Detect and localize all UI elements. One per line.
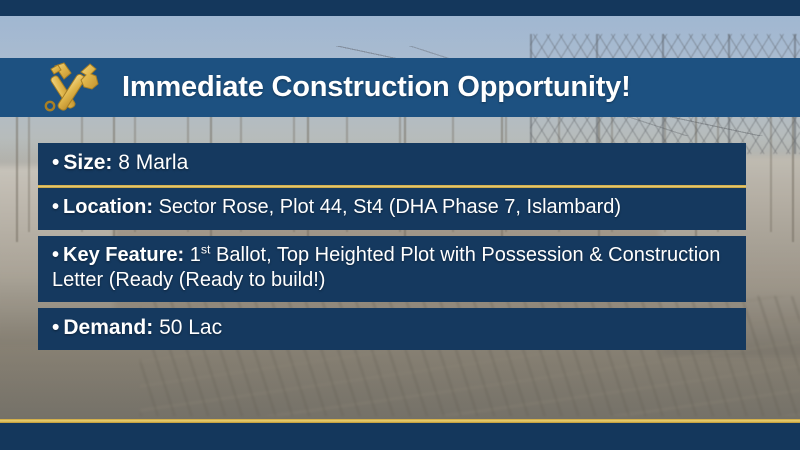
bullet-label-key-feature: Key Feature: bbox=[63, 244, 184, 266]
bullet-label-location: Location: bbox=[63, 196, 153, 218]
bullet-item-size: •Size: 8 Marla bbox=[38, 143, 746, 185]
bullet-value-size: 8 Marla bbox=[118, 151, 188, 174]
bullet-marker-location: • bbox=[52, 196, 59, 218]
top-navy-band bbox=[0, 0, 800, 13]
bullet-item-key-feature: •Key Feature: 1st Ballot, Top Heighted P… bbox=[38, 236, 746, 302]
bullet-label-demand: Demand: bbox=[63, 316, 153, 339]
page-title: Immediate Construction Opportunity! bbox=[122, 71, 631, 104]
bullet-value-demand: 50 Lac bbox=[159, 316, 222, 339]
bullet-item-demand: •Demand: 50 Lac bbox=[38, 308, 746, 350]
bullet-list: •Size: 8 Marla •Location: Sector Rose, P… bbox=[38, 143, 746, 350]
slide-canvas: Immediate Construction Opportunity! •Siz… bbox=[0, 0, 800, 450]
header-banner: Immediate Construction Opportunity! bbox=[0, 58, 800, 117]
bullet-value-ordinal-suffix: st bbox=[201, 242, 211, 256]
bullet-marker-demand: • bbox=[52, 316, 59, 339]
bottom-navy-band bbox=[0, 423, 800, 450]
bullet-marker-size: • bbox=[52, 151, 59, 174]
bullet-value-location: Sector Rose, Plot 44, St4 (DHA Phase 7, … bbox=[159, 196, 621, 218]
bullet-item-location: •Location: Sector Rose, Plot 44, St4 (DH… bbox=[38, 188, 746, 229]
bullet-value-ordinal-number: 1 bbox=[190, 244, 201, 266]
bullet-marker-key-feature: • bbox=[52, 244, 59, 266]
bullet-label-size: Size: bbox=[63, 151, 112, 174]
top-gold-rule bbox=[0, 13, 800, 17]
hammer-and-wrench-icon bbox=[34, 60, 108, 116]
